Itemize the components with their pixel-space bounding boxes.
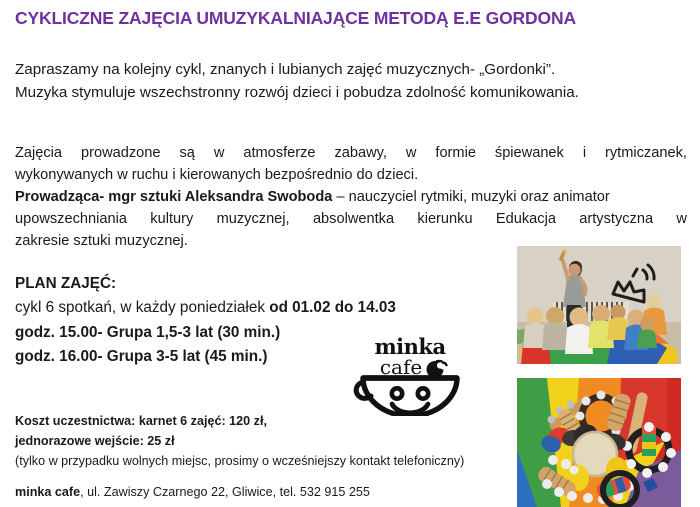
schedule-cycle-line: cykl 6 spotkań, w każdy poniedziałek od … — [15, 296, 485, 320]
description-line-1: Zajęcia prowadzone są w atmosferze zabaw… — [15, 143, 687, 165]
minka-cafe-logo: minka cafe — [345, 334, 475, 416]
music-class-illustration — [517, 246, 681, 364]
description-line-2: wykonywanych w ruchu i kierowanych bezpo… — [15, 165, 687, 187]
instructor-name: Prowadząca- mgr sztuki Aleksandra Swobod… — [15, 189, 332, 205]
page-title: CYKLICZNE ZAJĘCIA UMUZYKALNIAJĄCE METODĄ… — [15, 8, 675, 30]
cup-smile-icon: minka cafe — [345, 334, 475, 416]
flyer-page: CYKLICZNE ZAJĘCIA UMUZYKALNIAJĄCE METODĄ… — [0, 0, 700, 507]
intro-line-1: Zapraszamy na kolejny cykl, znanych i lu… — [15, 58, 687, 81]
footer-address: , ul. Zawiszy Czarnego 22, Gliwice, tel.… — [80, 485, 370, 499]
schedule-heading: PLAN ZAJĘĆ: — [15, 272, 485, 296]
intro-paragraph: Zapraszamy na kolejny cykl, znanych i lu… — [15, 58, 687, 104]
description-paragraph: Zajęcia prowadzone są w atmosferze zabaw… — [15, 143, 687, 252]
description-line-4: upowszechniania kultury muzycznej, absol… — [15, 209, 687, 231]
price-single: jednorazowe wejście: 25 zł — [15, 431, 505, 451]
price-package: Koszt uczestnictwa: karnet 6 zajęć: 120 … — [15, 411, 505, 431]
percussion-instruments-illustration — [517, 378, 681, 507]
contact-footer: minka cafe, ul. Zawiszy Czarnego 22, Gli… — [15, 484, 505, 500]
photo-music-class-children — [517, 246, 681, 364]
schedule-cycle-dates: od 01.02 do 14.03 — [269, 299, 396, 316]
pricing-block: Koszt uczestnictwa: karnet 6 zajęć: 120 … — [15, 411, 505, 471]
availability-note: (tylko w przypadku wolnych miejsc, prosi… — [15, 451, 505, 471]
photo-percussion-instruments — [517, 378, 681, 507]
description-line-3: Prowadząca- mgr sztuki Aleksandra Swobod… — [15, 187, 687, 209]
footer-brand: minka cafe — [15, 485, 80, 499]
instructor-role: – nauczyciel rytmiki, muzyki oraz animat… — [332, 189, 609, 205]
intro-line-2: Muzyka stymuluje wszechstronny rozwój dz… — [15, 81, 687, 104]
schedule-cycle-prefix: cykl 6 spotkań, w każdy poniedziałek — [15, 299, 269, 316]
